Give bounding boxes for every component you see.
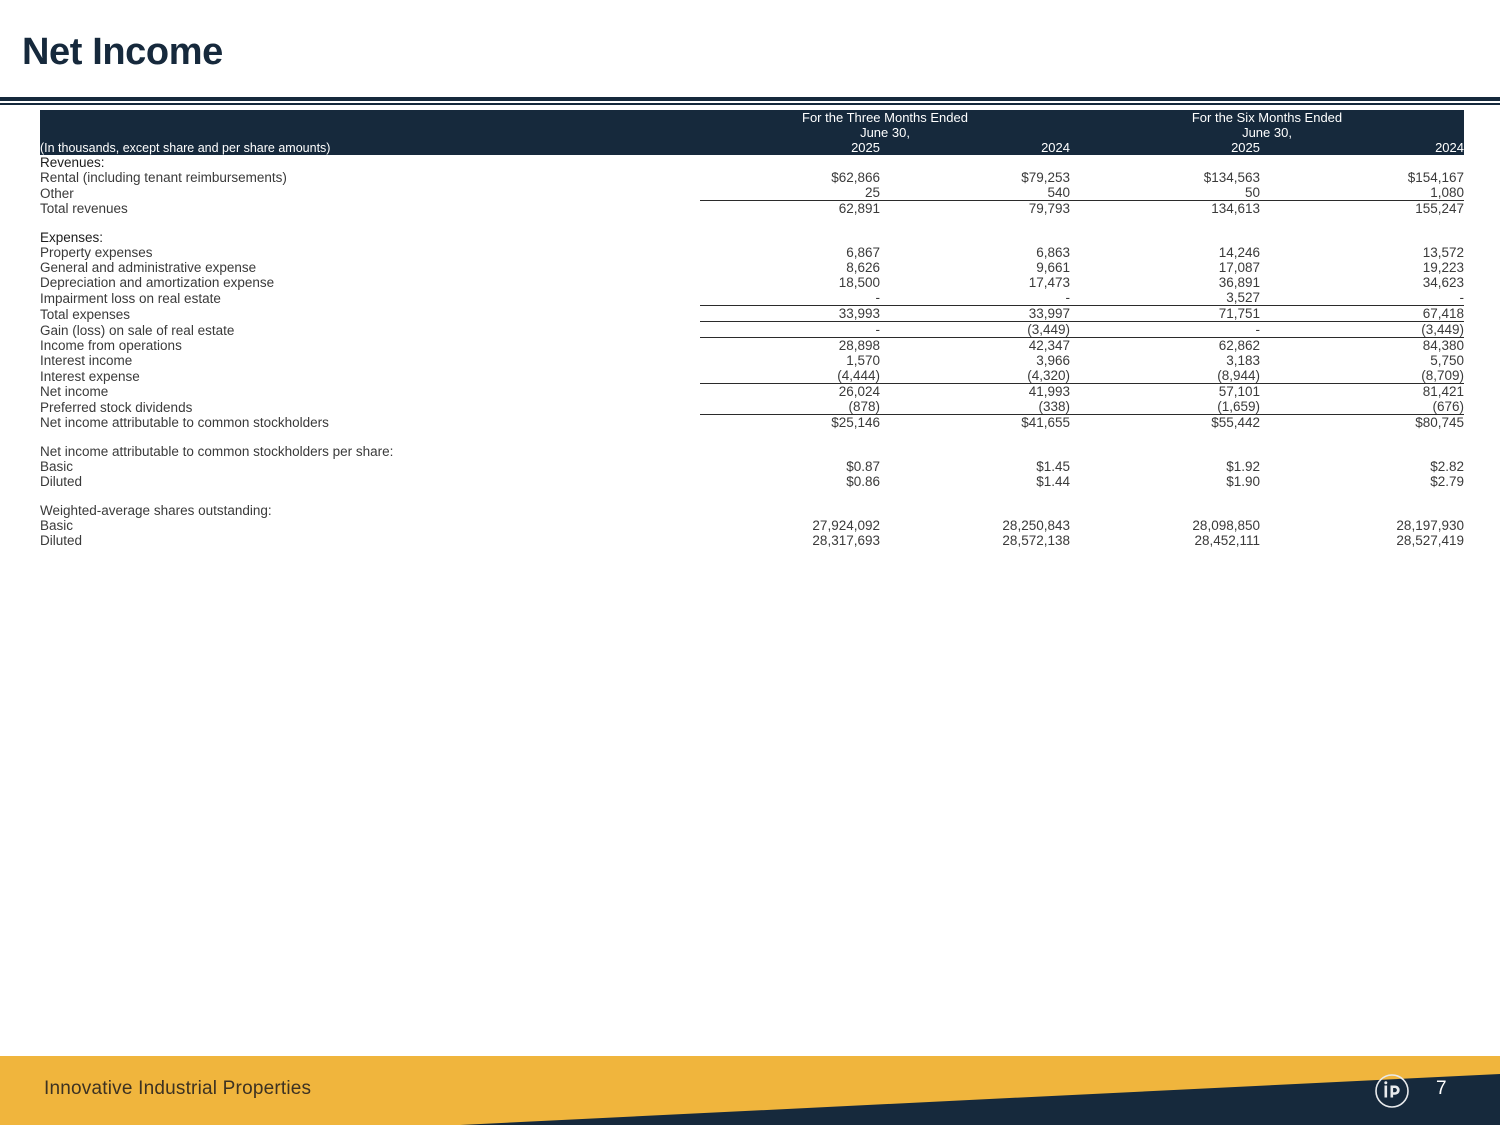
row-value: 3,527	[1070, 290, 1260, 306]
row-value	[880, 230, 1070, 245]
title-rule-thick	[0, 97, 1500, 101]
table-row: Basic27,924,09228,250,84328,098,85028,19…	[40, 518, 1464, 533]
row-value: $2.79	[1260, 474, 1464, 489]
row-value: (3,449)	[880, 322, 1070, 338]
row-label: Basic	[40, 459, 700, 474]
row-label: Property expenses	[40, 245, 700, 260]
row-value: -	[700, 290, 880, 306]
row-value: 14,246	[1070, 245, 1260, 260]
header-year-h-2024: 2024	[1260, 140, 1464, 155]
spacer-cell	[880, 216, 1070, 230]
row-value: 33,997	[880, 306, 1070, 322]
row-value: 8,626	[700, 260, 880, 275]
spacer-cell	[700, 216, 880, 230]
row-value: 17,473	[880, 275, 1070, 290]
row-label: Expenses:	[40, 230, 700, 245]
row-value: 26,024	[700, 384, 880, 400]
footer: Innovative Industrial Properties	[0, 1056, 1500, 1125]
row-spacer	[40, 489, 1464, 503]
table-row: Diluted28,317,69328,572,13828,452,11128,…	[40, 533, 1464, 548]
table-body: Revenues:Rental (including tenant reimbu…	[40, 155, 1464, 548]
row-value: -	[700, 322, 880, 338]
header-year-row: (In thousands, except share and per shar…	[40, 140, 1464, 155]
row-value: $1.92	[1070, 459, 1260, 474]
row-value: 9,661	[880, 260, 1070, 275]
row-value: 67,418	[1260, 306, 1464, 322]
slide: Net Income For the Three Months Ended Fo…	[0, 0, 1500, 1125]
row-label: Revenues:	[40, 155, 700, 170]
table-row: General and administrative expense8,6269…	[40, 260, 1464, 275]
header-period-three-months: June 30,	[700, 125, 1070, 140]
row-value: 3,183	[1070, 353, 1260, 368]
row-value: 50	[1070, 185, 1260, 201]
row-label: Depreciation and amortization expense	[40, 275, 700, 290]
row-value: 28,452,111	[1070, 533, 1260, 548]
header-year-h-2025: 2025	[1070, 140, 1260, 155]
row-value: 57,101	[1070, 384, 1260, 400]
spacer-cell	[1070, 430, 1260, 444]
row-value: 71,751	[1070, 306, 1260, 322]
spacer-cell	[1260, 489, 1464, 503]
row-value: 28,898	[700, 338, 880, 354]
row-spacer	[40, 430, 1464, 444]
row-value: 13,572	[1260, 245, 1464, 260]
row-label: Other	[40, 185, 700, 201]
units-note: (In thousands, except share and per shar…	[40, 140, 700, 155]
row-value: 6,867	[700, 245, 880, 260]
row-value: (338)	[880, 399, 1070, 415]
row-value: $1.90	[1070, 474, 1260, 489]
row-value: 1,570	[700, 353, 880, 368]
page-title: Net Income	[22, 31, 223, 74]
row-label: Income from operations	[40, 338, 700, 354]
row-value: $55,442	[1070, 415, 1260, 431]
row-label: Diluted	[40, 533, 700, 548]
header-year-q-2025: 2025	[700, 140, 880, 155]
row-spacer	[40, 216, 1464, 230]
row-value	[880, 155, 1070, 170]
row-value: 79,793	[880, 201, 1070, 217]
header-group-three-months: For the Three Months Ended	[700, 110, 1070, 125]
header-group-six-months: For the Six Months Ended	[1070, 110, 1464, 125]
row-value	[700, 503, 880, 518]
row-value: 34,623	[1260, 275, 1464, 290]
table-row: Expenses:	[40, 230, 1464, 245]
row-value: 25	[700, 185, 880, 201]
row-value: 42,347	[880, 338, 1070, 354]
row-value: $134,563	[1070, 170, 1260, 185]
table-row: Property expenses6,8676,86314,24613,572	[40, 245, 1464, 260]
row-value: 62,862	[1070, 338, 1260, 354]
row-value: 28,197,930	[1260, 518, 1464, 533]
row-value: 41,993	[880, 384, 1070, 400]
row-value: $79,253	[880, 170, 1070, 185]
row-value: (4,320)	[880, 368, 1070, 384]
table-row: Rental (including tenant reimbursements)…	[40, 170, 1464, 185]
table-row: Other25540501,080	[40, 185, 1464, 201]
row-value: (4,444)	[700, 368, 880, 384]
row-value: 33,993	[700, 306, 880, 322]
spacer-cell	[1070, 216, 1260, 230]
row-label: Diluted	[40, 474, 700, 489]
row-value: -	[1260, 290, 1464, 306]
footer-company-name: Innovative Industrial Properties	[44, 1078, 311, 1100]
row-value	[1070, 155, 1260, 170]
row-label: Total revenues	[40, 201, 700, 217]
row-label: Total expenses	[40, 306, 700, 322]
table-row: Revenues:	[40, 155, 1464, 170]
title-rule-thin	[0, 103, 1500, 105]
row-value: 27,924,092	[700, 518, 880, 533]
table-row: Total revenues62,89179,793134,613155,247	[40, 201, 1464, 217]
row-label: Gain (loss) on sale of real estate	[40, 322, 700, 338]
row-value: $62,866	[700, 170, 880, 185]
table-row: Net income26,02441,99357,10181,421	[40, 384, 1464, 400]
table-row: Preferred stock dividends(878)(338)(1,65…	[40, 399, 1464, 415]
row-value: (1,659)	[1070, 399, 1260, 415]
row-value	[700, 230, 880, 245]
row-value: 1,080	[1260, 185, 1464, 201]
table-row: Net income attributable to common stockh…	[40, 444, 1464, 459]
spacer-cell	[700, 489, 880, 503]
table-row: Basic$0.87$1.45$1.92$2.82	[40, 459, 1464, 474]
row-value: $80,745	[1260, 415, 1464, 431]
table-row: Gain (loss) on sale of real estate-(3,44…	[40, 322, 1464, 338]
row-value: $25,146	[700, 415, 880, 431]
row-value	[880, 503, 1070, 518]
row-value: 28,572,138	[880, 533, 1070, 548]
row-value	[1260, 444, 1464, 459]
row-value: $0.87	[700, 459, 880, 474]
row-value	[1070, 503, 1260, 518]
table-row: Net income attributable to common stockh…	[40, 415, 1464, 431]
row-value: (8,709)	[1260, 368, 1464, 384]
spacer-cell	[40, 430, 700, 444]
row-value: 28,098,850	[1070, 518, 1260, 533]
row-value: (878)	[700, 399, 880, 415]
table-row: Diluted$0.86$1.44$1.90$2.79	[40, 474, 1464, 489]
row-value: $2.82	[1260, 459, 1464, 474]
page-number: 7	[1436, 1078, 1447, 1100]
row-value: $0.86	[700, 474, 880, 489]
row-value: 81,421	[1260, 384, 1464, 400]
row-value: 6,863	[880, 245, 1070, 260]
spacer-cell	[880, 430, 1070, 444]
row-value: 18,500	[700, 275, 880, 290]
table-header: For the Three Months Ended For the Six M…	[40, 110, 1464, 155]
row-value: 28,527,419	[1260, 533, 1464, 548]
row-label: Interest expense	[40, 368, 700, 384]
row-value: 62,891	[700, 201, 880, 217]
spacer-cell	[1260, 216, 1464, 230]
spacer-cell	[40, 216, 700, 230]
row-value: (3,449)	[1260, 322, 1464, 338]
row-value: $1.45	[880, 459, 1070, 474]
row-value	[1070, 230, 1260, 245]
row-value: 84,380	[1260, 338, 1464, 354]
spacer-cell	[700, 430, 880, 444]
row-value: 134,613	[1070, 201, 1260, 217]
row-label: Basic	[40, 518, 700, 533]
net-income-table: For the Three Months Ended For the Six M…	[40, 110, 1464, 548]
table-row: Impairment loss on real estate--3,527-	[40, 290, 1464, 306]
row-value	[1260, 503, 1464, 518]
row-label: General and administrative expense	[40, 260, 700, 275]
row-value: 28,317,693	[700, 533, 880, 548]
header-units-cell	[40, 110, 700, 140]
row-label: Net income attributable to common stockh…	[40, 444, 700, 459]
row-value: 5,750	[1260, 353, 1464, 368]
table-row: Interest income1,5703,9663,1835,750	[40, 353, 1464, 368]
table-row: Total expenses33,99333,99771,75167,418	[40, 306, 1464, 322]
row-value	[1260, 230, 1464, 245]
row-value: $154,167	[1260, 170, 1464, 185]
table-row: Weighted-average shares outstanding:	[40, 503, 1464, 518]
header-year-q-2024: 2024	[880, 140, 1070, 155]
header-group-row: For the Three Months Ended For the Six M…	[40, 110, 1464, 125]
row-value	[700, 155, 880, 170]
row-value	[700, 444, 880, 459]
row-value: 17,087	[1070, 260, 1260, 275]
spacer-cell	[40, 489, 700, 503]
row-label: Net income attributable to common stockh…	[40, 415, 700, 431]
spacer-cell	[880, 489, 1070, 503]
row-value: (676)	[1260, 399, 1464, 415]
row-label: Rental (including tenant reimbursements)	[40, 170, 700, 185]
header-period-six-months: June 30,	[1070, 125, 1464, 140]
row-label: Weighted-average shares outstanding:	[40, 503, 700, 518]
row-value: (8,944)	[1070, 368, 1260, 384]
table-row: Interest expense(4,444)(4,320)(8,944)(8,…	[40, 368, 1464, 384]
row-value: 540	[880, 185, 1070, 201]
row-label: Interest income	[40, 353, 700, 368]
table-row: Income from operations28,89842,34762,862…	[40, 338, 1464, 354]
row-value: $41,655	[880, 415, 1070, 431]
row-value	[880, 444, 1070, 459]
row-value: 36,891	[1070, 275, 1260, 290]
spacer-cell	[1070, 489, 1260, 503]
row-value: $1.44	[880, 474, 1070, 489]
row-label: Preferred stock dividends	[40, 399, 700, 415]
row-value: 3,966	[880, 353, 1070, 368]
row-value: 19,223	[1260, 260, 1464, 275]
row-value	[1260, 155, 1464, 170]
row-value: 28,250,843	[880, 518, 1070, 533]
spacer-cell	[1260, 430, 1464, 444]
row-label: Impairment loss on real estate	[40, 290, 700, 306]
table-row: Depreciation and amortization expense18,…	[40, 275, 1464, 290]
row-value: -	[1070, 322, 1260, 338]
row-label: Net income	[40, 384, 700, 400]
iip-logo-icon	[1373, 1072, 1411, 1110]
row-value: -	[880, 290, 1070, 306]
row-value	[1070, 444, 1260, 459]
row-value: 155,247	[1260, 201, 1464, 217]
